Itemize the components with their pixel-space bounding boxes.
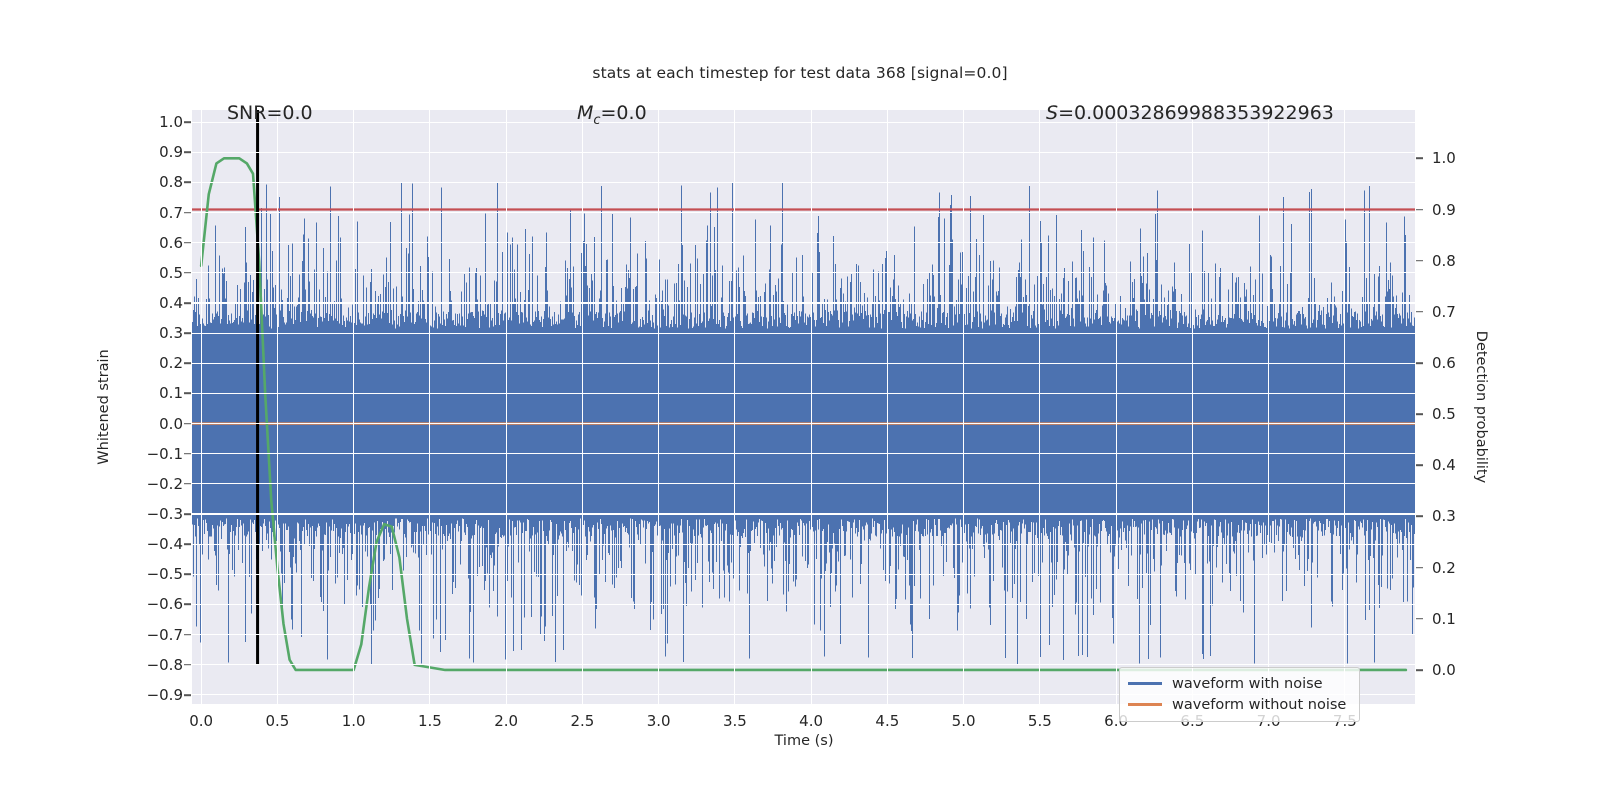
y-axis-left-tick-mark	[184, 513, 191, 515]
legend-label-waveform-with-noise: waveform with noise	[1172, 676, 1323, 692]
gridline-horizontal	[192, 664, 1415, 665]
y-axis-left-tick-mark	[184, 664, 191, 666]
gridline-vertical	[1039, 110, 1040, 704]
y-axis-left-tick-label: −0.5	[147, 565, 183, 583]
y-axis-left-tick-label: 0.6	[159, 234, 183, 252]
annotation-score-symbol: S	[1046, 102, 1058, 124]
x-axis-tick-label: 1.5	[418, 712, 442, 730]
gridline-horizontal	[192, 544, 1415, 545]
x-axis-tick-label: 4.5	[875, 712, 899, 730]
y-axis-right-label: Detection probability	[1473, 331, 1489, 483]
gridline-horizontal	[192, 302, 1415, 303]
gridline-horizontal	[192, 182, 1415, 183]
x-axis-tick-label: 5.0	[952, 712, 976, 730]
gridline-horizontal	[192, 634, 1415, 635]
y-axis-left-tick-mark	[184, 242, 191, 244]
gridline-horizontal	[192, 453, 1415, 454]
y-axis-left-tick-mark	[184, 543, 191, 545]
y-axis-right-tick-mark	[1416, 567, 1423, 569]
annotation-chirp-mass: Mc=0.0	[577, 102, 647, 128]
x-axis-tick-label: 2.5	[570, 712, 594, 730]
y-axis-left-tick-mark	[184, 574, 191, 576]
x-axis-tick-label: 3.5	[723, 712, 747, 730]
y-axis-right-tick-label: 0.6	[1432, 354, 1456, 372]
gridline-vertical	[429, 110, 430, 704]
y-axis-left-tick-mark	[184, 151, 191, 153]
gridline-vertical	[506, 110, 507, 704]
y-axis-right-tick-label: 0.8	[1432, 252, 1456, 270]
y-axis-left-tick-label: −0.9	[147, 686, 183, 704]
gridline-vertical	[201, 110, 202, 704]
gridline-vertical	[1268, 110, 1269, 704]
y-axis-left-tick-mark	[184, 393, 191, 395]
y-axis-left-tick-label: 0.2	[159, 354, 183, 372]
y-axis-right-tick-mark	[1416, 465, 1423, 467]
y-axis-left-tick-mark	[184, 182, 191, 184]
y-axis-right-tick-mark	[1416, 260, 1423, 262]
y-axis-right-tick-label: 0.2	[1432, 559, 1456, 577]
y-axis-left-tick-label: 0.0	[159, 415, 183, 433]
y-axis-right-tick-mark	[1416, 413, 1423, 415]
y-axis-left-tick-mark	[184, 362, 191, 364]
x-axis-tick-label: 1.0	[342, 712, 366, 730]
y-axis-right-tick-mark	[1416, 362, 1423, 364]
gridline-horizontal	[192, 363, 1415, 364]
x-axis-label: Time (s)	[775, 733, 834, 749]
gridline-horizontal	[192, 272, 1415, 273]
y-axis-right-tick-label: 0.1	[1432, 610, 1456, 628]
y-axis-left-tick-label: 0.5	[159, 264, 183, 282]
x-axis-tick-label: 5.5	[1028, 712, 1052, 730]
y-axis-left-tick-mark	[184, 483, 191, 485]
y-axis-right-tick-mark	[1416, 209, 1423, 211]
gridline-vertical	[963, 110, 964, 704]
gridline-vertical	[353, 110, 354, 704]
y-axis-left-tick-mark	[184, 212, 191, 214]
annotation-score: S=0.00032869988353922963	[1046, 102, 1334, 124]
gridline-vertical	[658, 110, 659, 704]
annotation-chirp-mass-value: =0.0	[601, 102, 647, 124]
gridline-horizontal	[192, 423, 1415, 424]
y-axis-left-tick-mark	[184, 121, 191, 123]
y-axis-left-label: Whitened strain	[96, 349, 112, 464]
y-axis-right-tick-label: 0.3	[1432, 507, 1456, 525]
annotation-chirp-mass-symbol: M	[577, 102, 593, 124]
gridline-vertical	[811, 110, 812, 704]
gridline-vertical	[1192, 110, 1193, 704]
gridline-horizontal	[192, 393, 1415, 394]
y-axis-left-tick-label: 1.0	[159, 113, 183, 131]
y-axis-right-tick-mark	[1416, 618, 1423, 620]
gridline-horizontal	[192, 513, 1415, 514]
legend-label-waveform-without-noise: waveform without noise	[1172, 697, 1346, 713]
x-axis-tick-label: 0.0	[189, 712, 213, 730]
annotation-score-value: =0.00032869988353922963	[1058, 102, 1334, 124]
y-axis-left-tick-label: 0.9	[159, 143, 183, 161]
gridline-vertical	[1344, 110, 1345, 704]
gridline-vertical	[277, 110, 278, 704]
chart-title: stats at each timestep for test data 368…	[0, 64, 1600, 82]
y-axis-left-tick-label: 0.1	[159, 384, 183, 402]
gridline-horizontal	[192, 152, 1415, 153]
gridline-vertical	[734, 110, 735, 704]
y-axis-left-tick-mark	[184, 634, 191, 636]
y-axis-left-tick-mark	[184, 604, 191, 606]
y-axis-left-tick-mark	[184, 302, 191, 304]
annotation-snr: SNR=0.0	[227, 102, 313, 124]
y-axis-left-tick-label: −0.3	[147, 505, 183, 523]
legend-item-waveform-without-noise: waveform without noise	[1128, 694, 1351, 715]
plot-area	[192, 110, 1415, 704]
plot-series-layer	[192, 110, 1415, 704]
annotation-chirp-mass-subscript: c	[593, 113, 600, 128]
y-axis-left-tick-mark	[184, 694, 191, 696]
y-axis-left-tick-mark	[184, 272, 191, 274]
y-axis-right-tick-label: 0.0	[1432, 661, 1456, 679]
y-axis-right-tick-label: 0.5	[1432, 405, 1456, 423]
y-axis-left-tick-label: −0.1	[147, 445, 183, 463]
y-axis-left-tick-label: −0.2	[147, 475, 183, 493]
y-axis-left-tick-mark	[184, 332, 191, 334]
y-axis-left-tick-label: −0.6	[147, 595, 183, 613]
y-axis-left-tick-label: 0.7	[159, 204, 183, 222]
legend: waveform with noise waveform without noi…	[1119, 667, 1360, 722]
y-axis-right-tick-mark	[1416, 158, 1423, 160]
y-axis-left-tick-label: −0.8	[147, 656, 183, 674]
gridline-horizontal	[192, 333, 1415, 334]
legend-swatch-waveform-without-noise	[1128, 703, 1162, 705]
y-axis-left-tick-label: −0.7	[147, 626, 183, 644]
gridline-horizontal	[192, 212, 1415, 213]
x-axis-tick-label: 4.0	[799, 712, 823, 730]
gridline-horizontal	[192, 574, 1415, 575]
legend-swatch-waveform-with-noise	[1128, 682, 1162, 684]
y-axis-left-tick-mark	[184, 423, 191, 425]
y-axis-right-tick-mark	[1416, 311, 1423, 313]
gridline-horizontal	[192, 242, 1415, 243]
gridline-horizontal	[192, 604, 1415, 605]
y-axis-right-tick-label: 1.0	[1432, 149, 1456, 167]
y-axis-left-tick-label: −0.4	[147, 535, 183, 553]
y-axis-left-tick-mark	[184, 453, 191, 455]
gridline-vertical	[1116, 110, 1117, 704]
gridline-vertical	[887, 110, 888, 704]
y-axis-right-tick-mark	[1416, 669, 1423, 671]
y-axis-right-tick-mark	[1416, 516, 1423, 518]
x-axis-tick-label: 0.5	[265, 712, 289, 730]
y-axis-left-tick-label: 0.4	[159, 294, 183, 312]
figure-canvas: stats at each timestep for test data 368…	[0, 0, 1600, 800]
x-axis-tick-label: 3.0	[647, 712, 671, 730]
y-axis-right-tick-label: 0.9	[1432, 201, 1456, 219]
legend-item-waveform-with-noise: waveform with noise	[1128, 673, 1351, 694]
gridline-horizontal	[192, 483, 1415, 484]
y-axis-left-tick-label: 0.8	[159, 173, 183, 191]
y-axis-left-tick-label: 0.3	[159, 324, 183, 342]
gridline-vertical	[582, 110, 583, 704]
x-axis-tick-label: 2.0	[494, 712, 518, 730]
y-axis-right-tick-label: 0.4	[1432, 456, 1456, 474]
y-axis-right-tick-label: 0.7	[1432, 303, 1456, 321]
